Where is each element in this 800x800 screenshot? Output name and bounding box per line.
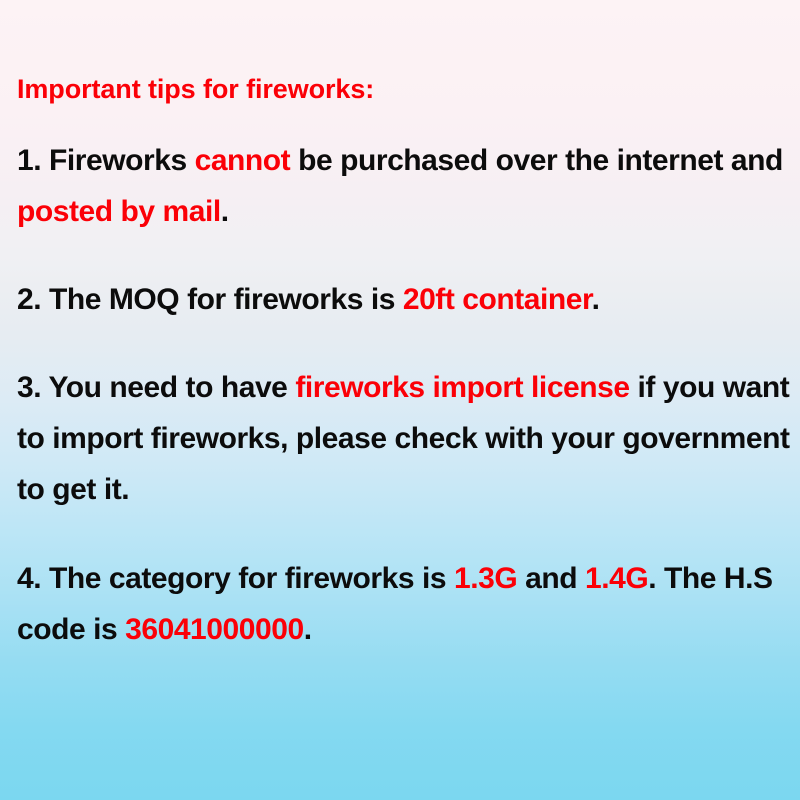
highlighted-text: fireworks import license [295,371,629,404]
highlighted-text: 1.4G [585,562,648,595]
tips-list: 1. Fireworks cannot be purchased over th… [17,106,792,655]
body-text: . [592,283,600,316]
highlighted-text: 36041000000 [125,613,304,646]
tip-item-2: 2. The MOQ for fireworks is 20ft contain… [17,237,792,325]
highlighted-text: 1.3G [454,562,517,595]
body-text: and [517,562,585,595]
body-text: 3. You need to have [17,371,295,404]
fireworks-notice: Important tips for fireworks: 1. Firewor… [17,0,792,655]
highlighted-text: cannot [195,144,291,177]
highlighted-text: posted by mail [17,195,221,228]
body-text: . [221,195,229,228]
highlighted-text: 20ft container [403,283,592,316]
notice-title: Important tips for fireworks: [17,0,792,106]
tip-item-1: 1. Fireworks cannot be purchased over th… [17,106,792,237]
body-text: 2. The MOQ for fireworks is [17,283,403,316]
body-text: 4. The category for fireworks is [17,562,454,595]
body-text: 1. Fireworks [17,144,195,177]
tip-item-3: 3. You need to have fireworks import lic… [17,325,792,515]
tip-item-4: 4. The category for fireworks is 1.3G an… [17,515,792,655]
body-text: be purchased over the internet and [290,144,783,177]
body-text: . [304,613,312,646]
